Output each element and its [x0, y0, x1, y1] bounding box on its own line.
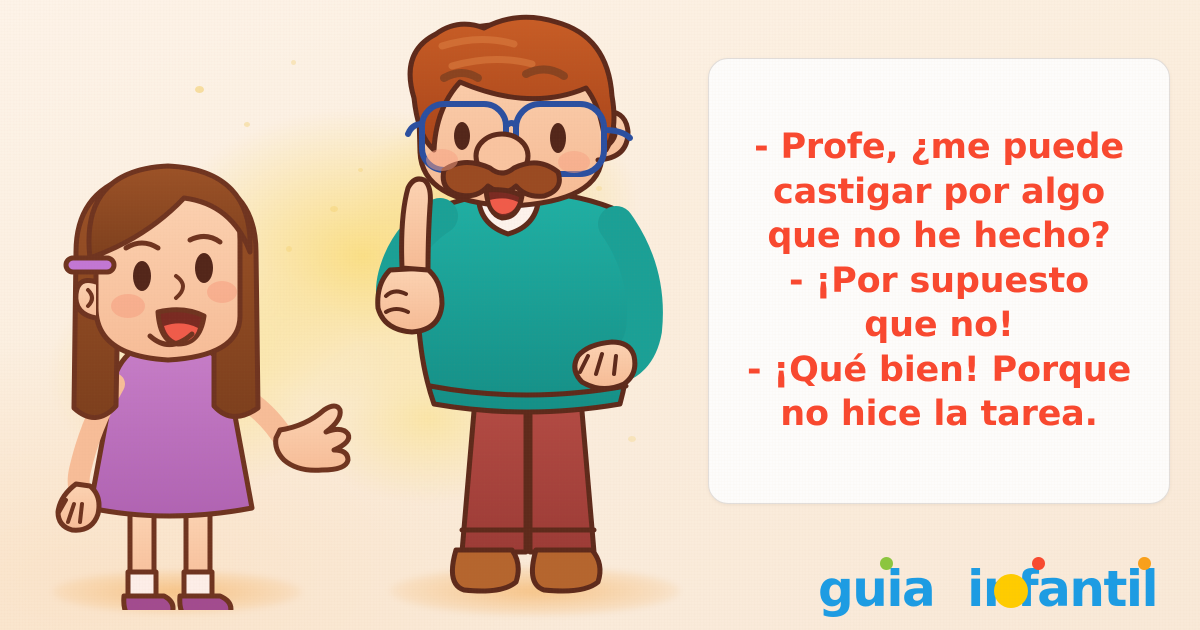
poster-canvas: - Profe, ¿me puede castigar por algo que… — [0, 0, 1200, 630]
paper-grain-overlay — [0, 0, 1200, 630]
